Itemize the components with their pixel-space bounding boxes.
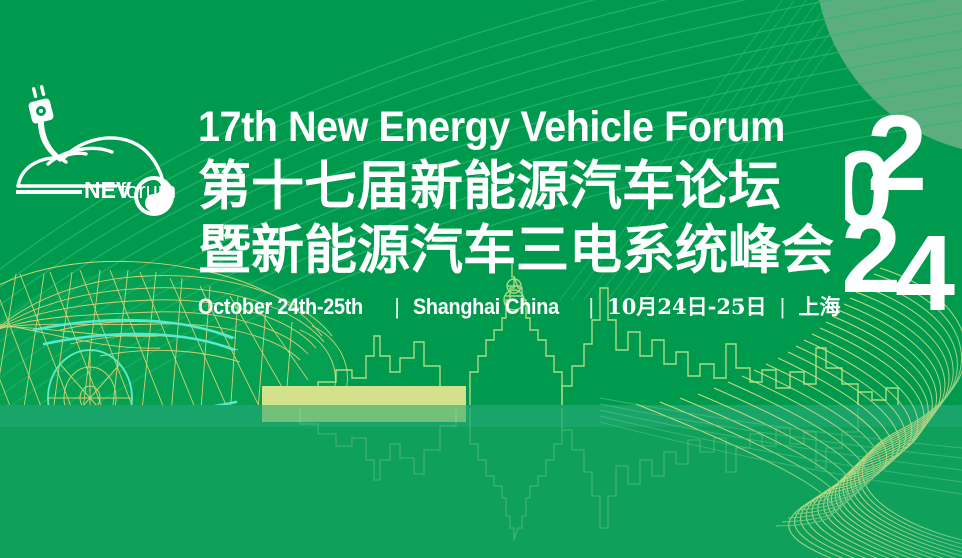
separator-1: | — [387, 294, 407, 319]
logo-underline — [16, 190, 82, 194]
ev-car-charging-plug-logo-icon: NEV forum — [8, 78, 188, 218]
nevforum-logo[interactable]: NEV forum — [8, 78, 188, 218]
title-english: 17th New Energy Vehicle Forum — [198, 104, 805, 150]
accent-bar-decor — [262, 386, 466, 422]
event-poster: NEV forum 2 0 2 4 17th New Energy Vehicl… — [0, 0, 962, 558]
event-info-line: October 24th-25th | Shanghai China | 10月… — [198, 295, 858, 319]
logo-wordmark-light: forum — [120, 178, 176, 203]
plug-icon — [28, 85, 55, 124]
year-digit-4: 4 — [895, 212, 955, 314]
event-date-en: October 24th-25th — [198, 295, 363, 319]
event-location-cn: 上海 — [799, 294, 841, 319]
separator-2: | — [581, 294, 601, 319]
title-chinese-line1: 第十七届新能源汽车论坛 — [198, 156, 858, 218]
separator-3: | — [773, 294, 793, 319]
event-location-en: Shanghai China — [413, 295, 559, 319]
event-date-cn: 10月24日-25日 — [607, 294, 766, 319]
water-band-decor — [0, 405, 962, 558]
title-block: 17th New Energy Vehicle Forum 第十七届新能源汽车论… — [198, 104, 858, 319]
title-chinese-line2: 暨新能源汽车三电系统峰会 — [198, 220, 858, 282]
year-badge-2024: 2 0 2 4 — [845, 104, 962, 314]
